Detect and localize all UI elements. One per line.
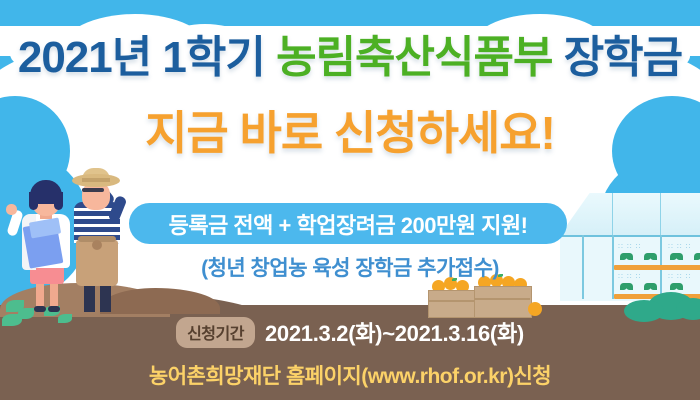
woman-hair-side: [29, 192, 38, 210]
apron-knot: [92, 240, 102, 250]
farmer-eyes: [82, 188, 104, 192]
benefit-pill-text: 등록금 전액 + 학업장려금 200만원 지원!: [169, 208, 528, 240]
irrigation-dots: :: :: ::: [618, 243, 642, 250]
website-line[interactable]: 농어촌희망재단 홈페이지(www.rhof.or.kr)신청: [0, 360, 700, 390]
headline-segment-ministry: 농림축산식품부: [276, 33, 552, 82]
promo-banner: :: :: :: :: :: :: :: :: :: :: :: :: 2021…: [0, 0, 700, 400]
straw-hat-band: [82, 178, 110, 182]
irrigation-dots: :: :: ::: [668, 243, 692, 250]
woman-hand: [6, 204, 17, 215]
application-period-row: 신청기간 2021.3.2(화)~2021.3.16(화): [0, 316, 700, 348]
greenhouse-roof: [560, 193, 700, 235]
crate-slat: [428, 300, 474, 302]
crate-large: [474, 286, 532, 318]
seedling-icon: [644, 283, 657, 292]
seedling-icon: [670, 283, 683, 292]
seedling-icon: [620, 283, 633, 292]
period-dates: 2021.3.2(화)~2021.3.16(화): [265, 316, 524, 348]
headline-segment-scholarship: 장학금: [552, 33, 682, 82]
woman-hair-side: [54, 192, 63, 210]
headline-line-2: 지금 바로 신청하세요!: [0, 104, 700, 162]
shirt-stripe: [74, 224, 120, 227]
headline-line-1: 2021년 1학기 농림축산식품부 장학금: [0, 30, 700, 86]
woman-shoe-right: [48, 306, 60, 312]
farmer-illustration-group: [0, 168, 150, 313]
headline-segment-year: 2021년 1학기: [18, 33, 276, 82]
crate-small: [428, 290, 476, 318]
orange-crate-group: [428, 276, 540, 316]
orange-fruit-loose: [528, 302, 542, 316]
subline-note: (청년 창업농 육성 장학금 추가접수): [0, 252, 700, 282]
benefit-pill: 등록금 전액 + 학업장려금 200만원 지원!: [129, 203, 567, 244]
greenhouse-roof-line: [660, 193, 661, 235]
greenhouse-roof-line: [612, 193, 613, 235]
period-badge: 신청기간: [176, 317, 255, 348]
woman-shoe-left: [34, 306, 46, 312]
crate-slat: [474, 298, 530, 300]
shirt-stripe: [74, 232, 120, 235]
